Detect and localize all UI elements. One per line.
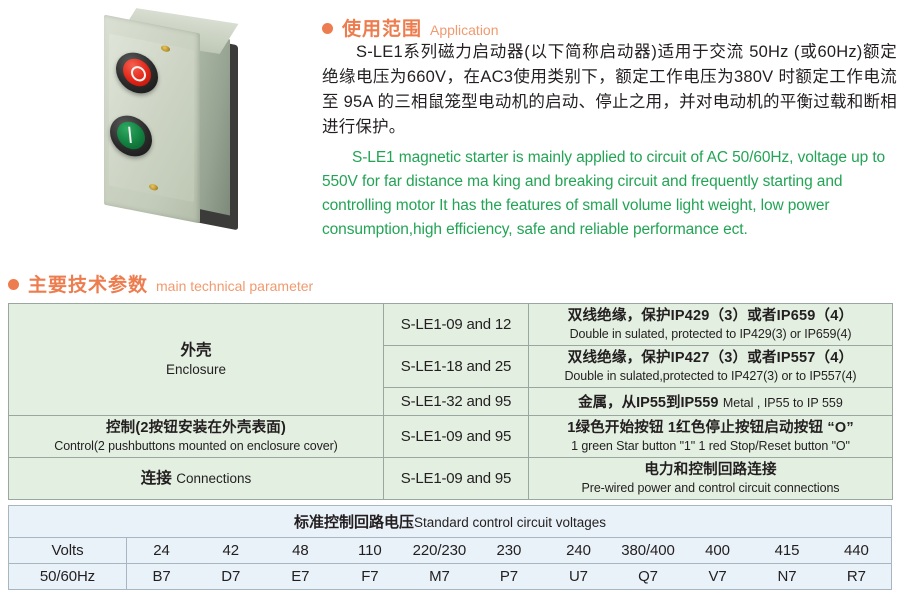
volts-value: 220/230 xyxy=(405,538,475,564)
table-row: 连接 Connections S-LE1-09 and 95 电力和控制回路连接… xyxy=(9,458,893,500)
description-cell: 双线绝缘，保护IP429（3）或者IP659（4） Double in sula… xyxy=(529,304,893,346)
volts-value: 230 xyxy=(474,538,544,564)
code-value: M7 xyxy=(405,564,475,590)
code-value: P7 xyxy=(474,564,544,590)
description-en: 1 green Star button "1" 1 red Stop/Reset… xyxy=(533,438,888,454)
technical-parameter-table: 外壳 Enclosure S-LE1-09 and 12 双线绝缘，保护IP42… xyxy=(8,303,893,500)
code-value: Q7 xyxy=(613,564,683,590)
application-paragraph-en: S-LE1 magnetic starter is mainly applied… xyxy=(322,146,897,242)
voltage-banner-en: Standard control circuit voltages xyxy=(414,515,606,530)
parameter-section-heading: 主要技术参数 main technical parameter xyxy=(8,270,313,297)
feature-label-cn: 外壳 xyxy=(13,340,379,361)
code-value: B7 xyxy=(127,564,197,590)
model-cell: S-LE1-09 and 95 xyxy=(384,416,529,458)
feature-label-en: Control(2 pushbuttons mounted on enclosu… xyxy=(13,438,379,454)
product-illustration xyxy=(30,8,290,253)
description-cn: 1绿色开始按钮 1红色停止按钮启动按钮 “O” xyxy=(533,419,888,438)
description-cn: 电力和控制回路连接 xyxy=(533,461,888,480)
description-cell: 双线绝缘，保护IP427（3）或者IP557（4） Double in sula… xyxy=(529,346,893,388)
application-heading-cn: 使用范围 xyxy=(342,14,422,41)
feature-label-en: Enclosure xyxy=(13,361,379,379)
description-cn: 金属，从IP55到IP559 xyxy=(578,395,718,411)
feature-cell-connections: 连接 Connections xyxy=(9,458,384,500)
description-cell: 电力和控制回路连接 Pre-wired power and control ci… xyxy=(529,458,893,500)
volts-value: 380/400 xyxy=(613,538,683,564)
parameter-heading-en: main technical parameter xyxy=(156,278,313,294)
volts-value: 400 xyxy=(683,538,753,564)
code-value: D7 xyxy=(196,564,266,590)
volts-row-label: Volts xyxy=(9,538,127,564)
volts-value: 24 xyxy=(127,538,197,564)
start-button-cap xyxy=(117,119,145,151)
application-heading-en: Application xyxy=(430,22,499,38)
feature-label-en: Connections xyxy=(176,471,251,486)
code-value: V7 xyxy=(683,564,753,590)
description-cn: 双线绝缘，保护IP427（3）或者IP557（4） xyxy=(533,349,888,368)
stop-button-cap xyxy=(123,56,151,88)
table-row: 控制(2按钮安装在外壳表面) Control(2 pushbuttons mou… xyxy=(9,416,893,458)
code-value: N7 xyxy=(752,564,822,590)
application-section-heading: 使用范围 Application xyxy=(322,14,499,41)
voltage-banner-row: 标准控制回路电压 Standard control circuit voltag… xyxy=(9,506,892,538)
model-cell: S-LE1-18 and 25 xyxy=(384,346,529,388)
frequency-row-label: 50/60Hz xyxy=(9,564,127,590)
code-value: U7 xyxy=(544,564,614,590)
volts-value: 240 xyxy=(544,538,614,564)
product-image xyxy=(30,8,290,253)
volts-value: 110 xyxy=(335,538,405,564)
feature-label-cn: 控制(2按钮安装在外壳表面) xyxy=(13,419,379,438)
standard-control-voltage-table: 标准控制回路电压 Standard control circuit voltag… xyxy=(8,505,892,590)
frequency-code-row: 50/60Hz B7 D7 E7 F7 M7 P7 U7 Q7 V7 N7 R7 xyxy=(9,564,892,590)
volts-row: Volts 24 42 48 110 220/230 230 240 380/4… xyxy=(9,538,892,564)
application-paragraph-cn: S-LE1系列磁力启动器(以下简称启动器)适用于交流 50Hz (或60Hz)额… xyxy=(322,40,897,140)
stop-symbol-o-icon xyxy=(131,65,146,83)
bullet-dot-icon xyxy=(322,23,333,34)
table-row: 外壳 Enclosure S-LE1-09 and 12 双线绝缘，保护IP42… xyxy=(9,304,893,346)
volts-value: 48 xyxy=(266,538,336,564)
bullet-dot-icon xyxy=(8,279,19,290)
feature-cell-control: 控制(2按钮安装在外壳表面) Control(2 pushbuttons mou… xyxy=(9,416,384,458)
description-cell: 金属，从IP55到IP559 Metal , IP55 to IP 559 xyxy=(529,388,893,416)
description-cn: 双线绝缘，保护IP429（3）或者IP659（4） xyxy=(533,307,888,326)
code-value: R7 xyxy=(822,564,892,590)
start-symbol-i-icon xyxy=(128,127,132,143)
screw-icon-bottom xyxy=(149,183,158,191)
parameter-heading-cn: 主要技术参数 xyxy=(28,270,148,297)
voltage-banner-cell: 标准控制回路电压 Standard control circuit voltag… xyxy=(9,506,892,538)
screw-icon-top xyxy=(161,45,170,53)
feature-label-cn: 连接 xyxy=(141,470,172,487)
volts-value: 440 xyxy=(822,538,892,564)
application-body: S-LE1系列磁力启动器(以下简称启动器)适用于交流 50Hz (或60Hz)额… xyxy=(322,40,897,242)
description-en: Double in sulated,protected to IP427(3) … xyxy=(533,368,888,384)
voltage-banner-cn: 标准控制回路电压 xyxy=(294,514,414,531)
volts-value: 42 xyxy=(196,538,266,564)
description-en: Pre-wired power and control circuit conn… xyxy=(533,480,888,496)
description-cell: 1绿色开始按钮 1红色停止按钮启动按钮 “O” 1 green Star but… xyxy=(529,416,893,458)
code-value: E7 xyxy=(266,564,336,590)
model-cell: S-LE1-09 and 12 xyxy=(384,304,529,346)
model-cell: S-LE1-09 and 95 xyxy=(384,458,529,500)
code-value: F7 xyxy=(335,564,405,590)
volts-value: 415 xyxy=(752,538,822,564)
description-en: Double in sulated, protected to IP429(3)… xyxy=(533,326,888,342)
model-cell: S-LE1-32 and 95 xyxy=(384,388,529,416)
feature-cell-enclosure: 外壳 Enclosure xyxy=(9,304,384,416)
description-en: Metal , IP55 to IP 559 xyxy=(723,396,843,410)
